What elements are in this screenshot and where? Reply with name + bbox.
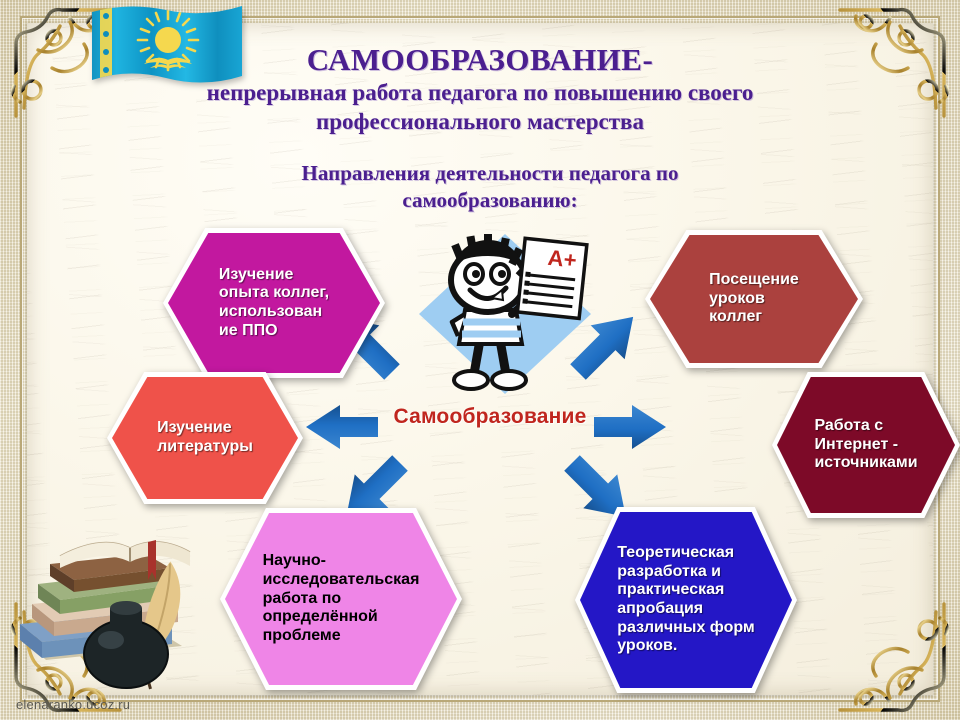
hexagon-theoretical-development-and-practice[interactable]: Теоретическаяразработка ипрактическаяапр…	[575, 507, 797, 693]
hexagon-label-line: разработка и	[617, 563, 755, 582]
hexagon-label-line: ие ППО	[219, 322, 329, 341]
hexagon-label: Изучениелитературы	[151, 419, 259, 456]
hexagon-fill: Изучениелитературы	[112, 377, 298, 499]
hexagon-label-line: работа по	[263, 590, 420, 609]
hexagon-label: Работа сИнтернет -источниками	[808, 417, 923, 473]
hexagon-label-line: различных форм	[617, 619, 755, 638]
subtitle: Направления деятельности педагога по сам…	[230, 160, 750, 214]
hexagon-fill: Изучениеопыта коллег,использование ППО	[168, 233, 380, 373]
title-sub-line-1: непрерывная работа педагога по повышению…	[120, 79, 840, 106]
hexagon-label-line: исследовательская	[263, 571, 420, 590]
hexagon-label-line: Посещение	[709, 271, 799, 290]
hexagon-label-line: уроков	[709, 290, 799, 309]
hexagon-label-line: апробация	[617, 600, 755, 619]
hexagon-label-line: уроков.	[617, 637, 755, 656]
hexagon-fill: Теоретическаяразработка ипрактическаяапр…	[580, 512, 792, 688]
title-main: САМООБРАЗОВАНИЕ-	[120, 44, 840, 77]
hexagon-label-line: Теоретическая	[617, 544, 755, 563]
hexagon-label-line: Интернет -	[814, 436, 917, 455]
svg-text:A+: A+	[547, 245, 578, 273]
hexagon-label-line: коллег	[709, 308, 799, 327]
slide-canvas: САМООБРАЗОВАНИЕ- непрерывная работа педа…	[0, 0, 960, 720]
hexagon-label-line: источниками	[814, 454, 917, 473]
page-title: САМООБРАЗОВАНИЕ- непрерывная работа педа…	[120, 44, 840, 135]
subtitle-line-1: Направления деятельности педагога по	[230, 160, 750, 187]
stack-of-books-with-quill-and-inkwell-icon	[6, 512, 226, 692]
hexagon-label-line: опыта коллег,	[219, 284, 329, 303]
hexagon-fill: Научно-исследовательскаяработа поопредел…	[225, 513, 457, 685]
hexagon-label-line: проблеме	[263, 627, 420, 646]
student-with-a-plus-paper-icon: A+	[408, 222, 603, 407]
hexagon-label-line: Изучение	[219, 266, 329, 285]
hexagon-visiting-colleagues-lessons[interactable]: Посещениеуроковколлег	[645, 230, 863, 368]
hexagon-label: Изучениеопыта коллег,использование ППО	[213, 266, 335, 341]
hexagon-label-line: практическая	[617, 581, 755, 600]
subtitle-line-2: самообразованию:	[230, 187, 750, 214]
watermark-text: elenaranko.ucoz.ru	[16, 697, 130, 712]
hexagon-label-line: Работа с	[814, 417, 917, 436]
hexagon-label: Посещениеуроковколлег	[703, 271, 805, 327]
hexagon-label-line: литературы	[157, 438, 253, 457]
hexagon-work-with-internet-sources[interactable]: Работа сИнтернет -источниками	[772, 372, 960, 518]
hexagon-label-line: определённой	[263, 608, 420, 627]
hexagon-label: Теоретическаяразработка ипрактическаяапр…	[611, 544, 761, 656]
hexagon-research-work-on-a-problem[interactable]: Научно-исследовательскаяработа поопредел…	[220, 508, 462, 690]
hexagon-label: Научно-исследовательскаяработа поопредел…	[257, 552, 426, 646]
title-sub-line-2: профессионального мастерства	[120, 108, 840, 135]
hexagon-fill: Посещениеуроковколлег	[650, 235, 858, 363]
hexagon-label-line: Изучение	[157, 419, 253, 438]
center-caption: Самообразование	[330, 405, 650, 429]
hexagon-study-colleagues-experience[interactable]: Изучениеопыта коллег,использование ППО	[163, 228, 385, 378]
hexagon-label-line: Научно-	[263, 552, 420, 571]
hexagon-fill: Работа сИнтернет -источниками	[777, 377, 955, 513]
hexagon-study-of-literature[interactable]: Изучениелитературы	[107, 372, 303, 504]
hexagon-label-line: использован	[219, 303, 329, 322]
